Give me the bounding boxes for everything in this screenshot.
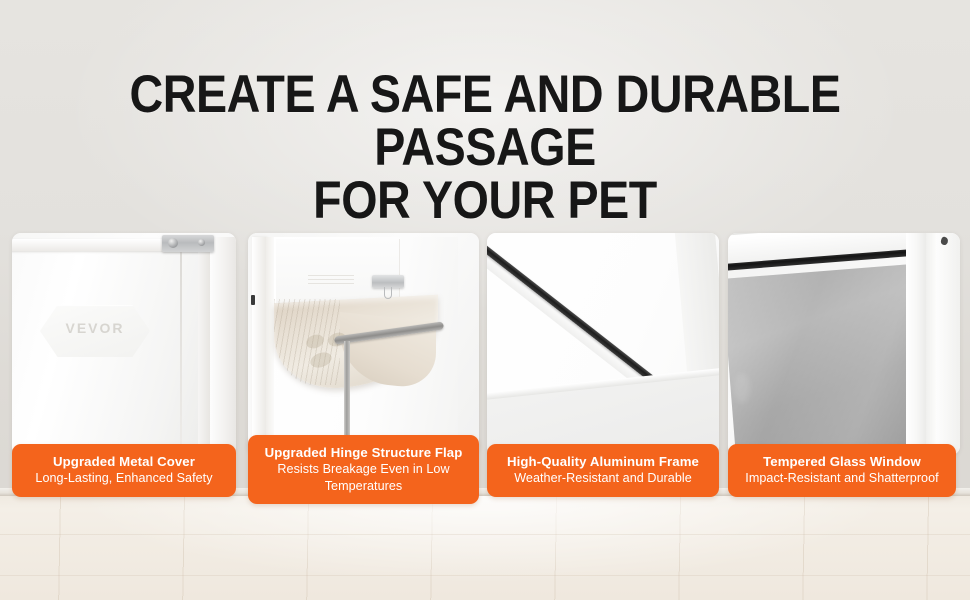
- feature-card-list: VEVOR Upgraded Metal Cover Long-Lasting,…: [0, 233, 970, 503]
- caption-title: Upgraded Hinge Structure Flap: [254, 444, 473, 461]
- vevor-logo-text: VEVOR: [40, 320, 150, 336]
- feature-caption-aluminum-frame: High-Quality Aluminum Frame Weather-Resi…: [487, 444, 719, 497]
- caption-title: Upgraded Metal Cover: [18, 453, 230, 470]
- feature-banner: CREATE A SAFE AND DURABLE PASSAGE FOR YO…: [0, 0, 970, 600]
- product-photo-hinge-flap: [248, 233, 479, 455]
- product-label-sticker: [308, 275, 354, 287]
- feature-caption-metal-cover: Upgraded Metal Cover Long-Lasting, Enhan…: [12, 444, 236, 497]
- glass-reflection: [728, 264, 922, 455]
- hinge-screw-secondary-icon: [198, 239, 205, 246]
- caption-subtitle: Weather-Resistant and Durable: [493, 470, 713, 487]
- frame-post-outer: [936, 233, 960, 455]
- caption-subtitle: Long-Lasting, Enhanced Safety: [18, 470, 230, 487]
- door-side-panel: [210, 237, 236, 455]
- glass-highlight: [734, 373, 750, 403]
- door-frame-left-inner: [266, 237, 274, 453]
- door-frame-left: [252, 237, 266, 453]
- floor-background: [0, 494, 970, 600]
- product-photo-aluminum-frame: [487, 233, 719, 455]
- caption-title: High-Quality Aluminum Frame: [493, 453, 713, 470]
- panel-seam: [180, 247, 182, 455]
- caption-subtitle: Impact-Resistant and Shatterproof: [734, 470, 950, 487]
- frame-post-middle: [926, 233, 936, 455]
- caption-subtitle: Resists Breakage Even in Low Temperature…: [254, 461, 473, 494]
- frame-post-inner: [906, 233, 926, 455]
- product-photo-tempered-glass: [728, 233, 960, 455]
- hinge-flap-illustration: [248, 233, 479, 455]
- hinge-screw-icon: [168, 238, 178, 248]
- feature-caption-tempered-glass: Tempered Glass Window Impact-Resistant a…: [728, 444, 956, 497]
- product-photo-metal-cover: VEVOR: [12, 233, 236, 455]
- page-title: CREATE A SAFE AND DURABLE PASSAGE FOR YO…: [58, 68, 912, 227]
- caption-title: Tempered Glass Window: [734, 453, 950, 470]
- latch-pin: [384, 287, 392, 299]
- frame-marker: [251, 295, 255, 305]
- aluminum-frame-illustration: [487, 233, 719, 455]
- feature-caption-hinge-flap: Upgraded Hinge Structure Flap Resists Br…: [248, 435, 479, 504]
- panel-seam-secondary: [198, 241, 210, 455]
- metal-cover-illustration: VEVOR: [12, 233, 236, 455]
- tempered-glass-illustration: [728, 233, 960, 455]
